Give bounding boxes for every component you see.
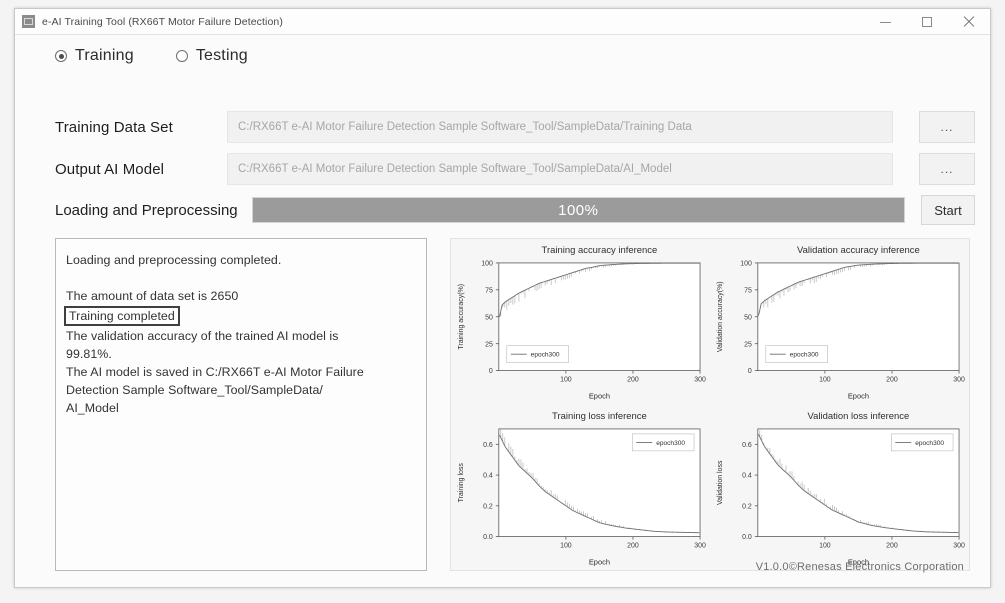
chart-1: Training accuracy inference0255075100100… (451, 239, 710, 405)
svg-text:50: 50 (744, 314, 752, 321)
log-line: Detection Sample Software_Tool/SampleDat… (66, 381, 416, 399)
training-data-set-input[interactable]: C:/RX66T e-AI Motor Failure Detection Sa… (227, 111, 893, 143)
application-window: e-AI Training Tool (RX66T Motor Failure … (14, 8, 991, 588)
progress-percent-text: 100% (253, 198, 904, 222)
output-ai-model-label: Output AI Model (55, 161, 227, 178)
svg-text:100: 100 (560, 377, 572, 384)
radio-training-label: Training (75, 47, 134, 65)
radio-testing[interactable]: Testing (176, 47, 248, 65)
log-highlight-training-completed: Training completed (64, 306, 180, 326)
log-lines: Loading and preprocessing completed.The … (66, 251, 416, 417)
chart-4: Validation loss inference0.00.20.40.6100… (710, 405, 969, 571)
output-ai-model-input[interactable]: C:/RX66T e-AI Motor Failure Detection Sa… (227, 153, 893, 185)
progress-bar: 100% (252, 197, 905, 223)
charts-grid: Training accuracy inference0255075100100… (451, 239, 969, 570)
training-data-set-row: Training Data Set C:/RX66T e-AI Motor Fa… (55, 111, 975, 143)
svg-text:300: 300 (694, 377, 706, 384)
svg-text:300: 300 (694, 542, 706, 549)
app-root: e-AI Training Tool (RX66T Motor Failure … (0, 0, 1005, 603)
svg-text:epoch300: epoch300 (656, 439, 685, 446)
svg-text:300: 300 (953, 377, 965, 384)
svg-text:Epoch: Epoch (589, 557, 610, 566)
svg-text:0.4: 0.4 (742, 472, 752, 479)
svg-text:100: 100 (560, 542, 572, 549)
svg-text:100: 100 (819, 377, 831, 384)
svg-text:0: 0 (489, 368, 493, 375)
svg-text:100: 100 (481, 261, 493, 268)
svg-text:300: 300 (953, 542, 965, 549)
svg-text:0.2: 0.2 (483, 503, 493, 510)
svg-text:100: 100 (740, 261, 752, 268)
svg-text:200: 200 (627, 377, 639, 384)
svg-text:200: 200 (886, 542, 898, 549)
svg-text:epoch300: epoch300 (790, 352, 819, 359)
svg-text:Epoch: Epoch (848, 392, 869, 401)
svg-text:200: 200 (886, 377, 898, 384)
maximize-icon (922, 17, 932, 27)
minimize-icon (880, 22, 891, 23)
log-line: Loading and preprocessing completed. (66, 251, 416, 269)
log-line: Training completed (66, 305, 416, 327)
footer-copyright: V1.0.0©Renesas Electronics Corporation (756, 561, 964, 573)
log-line: AI_Model (66, 399, 416, 417)
log-line: The AI model is saved in C:/RX66T e-AI M… (66, 363, 416, 381)
svg-text:200: 200 (627, 542, 639, 549)
window-title: e-AI Training Tool (RX66T Motor Failure … (42, 16, 283, 28)
log-line: The amount of data set is 2650 (66, 287, 416, 305)
svg-text:75: 75 (485, 287, 493, 294)
svg-text:Validation loss inference: Validation loss inference (808, 410, 910, 421)
svg-text:0.6: 0.6 (742, 441, 752, 448)
output-ai-model-browse-button[interactable]: ... (919, 153, 975, 185)
svg-text:75: 75 (744, 287, 752, 294)
close-button[interactable] (948, 9, 990, 35)
svg-text:epoch300: epoch300 (531, 352, 560, 359)
svg-text:50: 50 (485, 314, 493, 321)
output-ai-model-row: Output AI Model C:/RX66T e-AI Motor Fail… (55, 153, 975, 185)
log-line: 99.81%. (66, 345, 416, 363)
svg-text:Training loss: Training loss (458, 462, 465, 502)
window-controls (864, 9, 990, 35)
svg-text:Training accuracy inference: Training accuracy inference (542, 245, 658, 256)
svg-text:25: 25 (744, 341, 752, 348)
progress-row: Loading and Preprocessing 100% Start (55, 195, 975, 225)
close-icon (963, 16, 975, 28)
start-button[interactable]: Start (921, 195, 975, 225)
chart-2: Validation accuracy inference02550751001… (710, 239, 969, 405)
log-line: The validation accuracy of the trained A… (66, 327, 416, 345)
log-line-blank (66, 269, 416, 287)
svg-text:epoch300: epoch300 (915, 439, 944, 446)
svg-text:0.0: 0.0 (742, 534, 752, 541)
svg-text:100: 100 (819, 542, 831, 549)
svg-text:Epoch: Epoch (589, 392, 610, 401)
mode-radio-group: Training Testing (55, 47, 290, 65)
svg-text:0.4: 0.4 (483, 472, 493, 479)
app-icon (22, 15, 35, 28)
svg-text:0.2: 0.2 (742, 503, 752, 510)
svg-text:Validation accuracy(%): Validation accuracy(%) (717, 281, 724, 352)
svg-text:25: 25 (485, 341, 493, 348)
svg-text:0: 0 (748, 368, 752, 375)
svg-text:Validation loss: Validation loss (717, 460, 724, 505)
chart-3: Training loss inference0.00.20.40.610020… (451, 405, 710, 571)
log-output-panel[interactable]: Loading and preprocessing completed.The … (55, 238, 427, 571)
progress-label: Loading and Preprocessing (55, 202, 238, 219)
svg-text:Validation accuracy inference: Validation accuracy inference (797, 245, 920, 256)
window-client-area: Training Testing Training Data Set C:/RX… (15, 35, 990, 587)
svg-text:0.0: 0.0 (483, 534, 493, 541)
radio-training[interactable]: Training (55, 47, 134, 65)
svg-text:0.6: 0.6 (483, 441, 493, 448)
svg-text:Training loss inference: Training loss inference (552, 410, 647, 421)
maximize-button[interactable] (906, 9, 948, 35)
training-data-set-label: Training Data Set (55, 119, 227, 136)
training-data-set-browse-button[interactable]: ... (919, 111, 975, 143)
radio-testing-label: Testing (196, 47, 248, 65)
charts-panel: Training accuracy inference0255075100100… (450, 238, 970, 571)
minimize-button[interactable] (864, 9, 906, 35)
svg-text:Training accuracy(%): Training accuracy(%) (458, 284, 465, 350)
radio-training-icon (55, 50, 67, 62)
title-bar: e-AI Training Tool (RX66T Motor Failure … (15, 9, 990, 35)
radio-testing-icon (176, 50, 188, 62)
